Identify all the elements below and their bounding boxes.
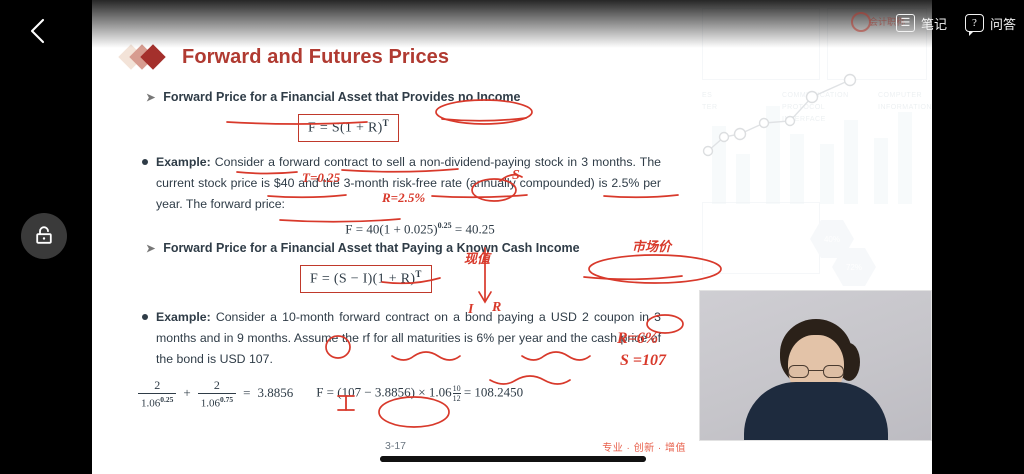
equation-1-tail: = 40.25	[452, 221, 495, 236]
slide-slogan: 专业 · 创新 · 增值	[602, 439, 686, 454]
qa-button[interactable]: ? 问答	[965, 14, 1016, 33]
equation-1-lead: F = 40(1 + 0.025)	[345, 221, 437, 236]
course-player: ES TER COMMUNICATION PROTOCOL INTERFACE …	[0, 0, 1024, 474]
backdrop-line-chart	[692, 0, 932, 300]
video-progress-fill	[380, 456, 646, 462]
fraction-1-numerator: 2	[149, 378, 165, 393]
video-glasses	[788, 365, 844, 379]
chevron-left-icon	[27, 17, 47, 45]
fraction-1: 2 1.060.25	[138, 378, 176, 410]
example-text-1: Consider a forward contract to sell a no…	[156, 155, 661, 211]
qa-button-label: 问答	[990, 14, 1016, 33]
instructor-video-feed[interactable]	[699, 290, 932, 441]
formula-1-exponent: T	[383, 118, 389, 128]
slide-backdrop-graphics: ES TER COMMUNICATION PROTOCOL INTERFACE …	[692, 0, 932, 300]
formula-1-text: F = S(1 + R)	[308, 121, 383, 136]
unlocked-padlock-icon	[32, 224, 56, 248]
notes-icon: ☰	[896, 14, 915, 32]
bullet-dot-icon	[142, 159, 148, 165]
calculation-row: 2 1.060.25 + 2 1.060.75 = 3.8856 F = (10…	[138, 378, 692, 410]
formula-box-2: F = (S − I)(1 + R)T	[300, 265, 432, 293]
calculation-result: 3.8856	[257, 385, 293, 401]
equation-2: F = (107 − 3.8856) × 1.061012 = 108.2450	[316, 384, 523, 403]
fraction-2-denominator: 1.060.75	[198, 393, 236, 410]
bullet-dot-icon	[142, 314, 148, 320]
video-progress-bar[interactable]	[380, 456, 646, 462]
fraction-2: 2 1.060.75	[198, 378, 236, 410]
formula-box-1: F = S(1 + R)T	[298, 114, 399, 142]
notes-button-label: 笔记	[921, 14, 947, 33]
equation-2-tail: = 108.2450	[461, 384, 524, 399]
section-heading-2-label: Forward Price for a Financial Asset that…	[163, 241, 579, 255]
equation-1: F = 40(1 + 0.025)0.25 = 40.25	[148, 221, 692, 237]
diamond-decoration-icon	[122, 44, 174, 70]
slide-title-row: Forward and Futures Prices	[122, 44, 692, 70]
section-heading-1-label: Forward Price for a Financial Asset that…	[163, 90, 520, 104]
equation-2-lead: F = (107 − 3.8856) × 1.06	[316, 384, 451, 399]
example-label-2: Example:	[156, 310, 211, 324]
fraction-1-denominator: 1.060.25	[138, 393, 176, 410]
arrow-bullet-icon: ➤	[146, 242, 155, 255]
example-label-1: Example:	[156, 155, 211, 169]
plus-operator: +	[183, 385, 190, 401]
example-text-2: Consider a 10-month forward contract on …	[156, 310, 661, 366]
question-bubble-icon: ?	[965, 14, 984, 32]
arrow-bullet-icon: ➤	[146, 91, 155, 104]
example-paragraph-2: Example: Consider a 10-month forward con…	[156, 307, 661, 370]
slide-page-number: 3-17	[385, 440, 406, 452]
player-toolbar: ☰ 笔记 ? 问答	[896, 8, 1016, 38]
equals-operator: =	[243, 385, 250, 401]
slide-content: Forward and Futures Prices ➤ Forward Pri…	[92, 0, 692, 474]
notes-button[interactable]: ☰ 笔记	[896, 14, 947, 33]
formula-2-text: F = (S − I)(1 + R)	[310, 272, 415, 287]
equation-2-exponent-fraction: 1012	[453, 384, 461, 403]
equation-1-exponent: 0.25	[438, 221, 452, 230]
section-heading-1: ➤ Forward Price for a Financial Asset th…	[146, 90, 692, 104]
page-title: Forward and Futures Prices	[182, 46, 449, 69]
back-button[interactable]	[20, 14, 54, 48]
example-paragraph-1: Example: Consider a forward contract to …	[156, 152, 661, 215]
section-heading-2: ➤ Forward Price for a Financial Asset th…	[146, 241, 692, 255]
screen-lock-button[interactable]	[21, 213, 67, 259]
video-torso	[744, 382, 888, 440]
formula-2-exponent: T	[415, 269, 421, 279]
fraction-2-numerator: 2	[209, 378, 225, 393]
